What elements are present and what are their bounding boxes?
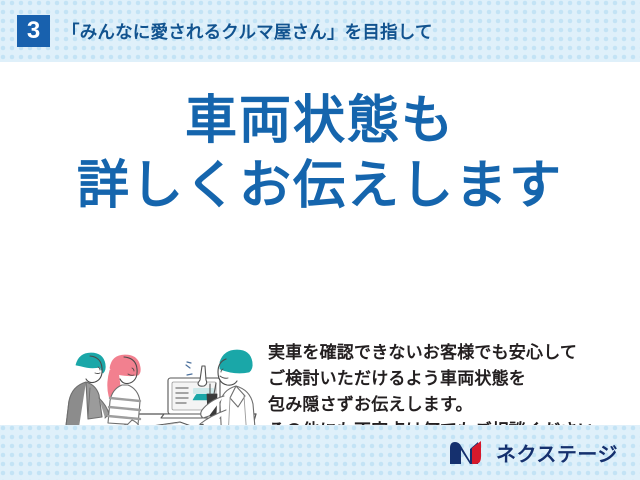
main-content-panel: 車両状態も 詳しくお伝えします: [0, 62, 640, 425]
figure-customer-male: [66, 353, 109, 427]
body-copy-line-3: 包み隠さずお伝えします。: [268, 392, 620, 418]
headline: 車両状態も 詳しくお伝えします: [0, 92, 640, 217]
footer-brand-logo: ネクステージ: [0, 425, 640, 480]
body-copy-line-2: ご検討いただけるよう車両状態を: [268, 366, 620, 392]
figure-customer-female: [108, 355, 141, 430]
brand-name-text: ネクステージ: [496, 438, 618, 467]
headline-line-1: 車両状態も: [0, 92, 640, 151]
body-copy-line-1: 実車を確認できないお客様でも安心して: [268, 340, 620, 366]
header-title: 「みんなに愛されるクルマ屋さん」を目指して: [62, 19, 433, 44]
header: 3 「みんなに愛されるクルマ屋さん」を目指して: [0, 0, 640, 62]
lower-content-area: 実車を確認できないお客様でも安心して ご検討いただけるよう車両状態を 包み隠さず…: [0, 274, 640, 424]
step-number-badge: 3: [17, 15, 50, 47]
nextage-n-logo-icon: [448, 440, 488, 466]
promo-banner: 3 「みんなに愛されるクルマ屋さん」を目指して 車両状態も 詳しくお伝えします: [0, 0, 640, 480]
headline-line-2: 詳しくお伝えします: [0, 157, 640, 216]
